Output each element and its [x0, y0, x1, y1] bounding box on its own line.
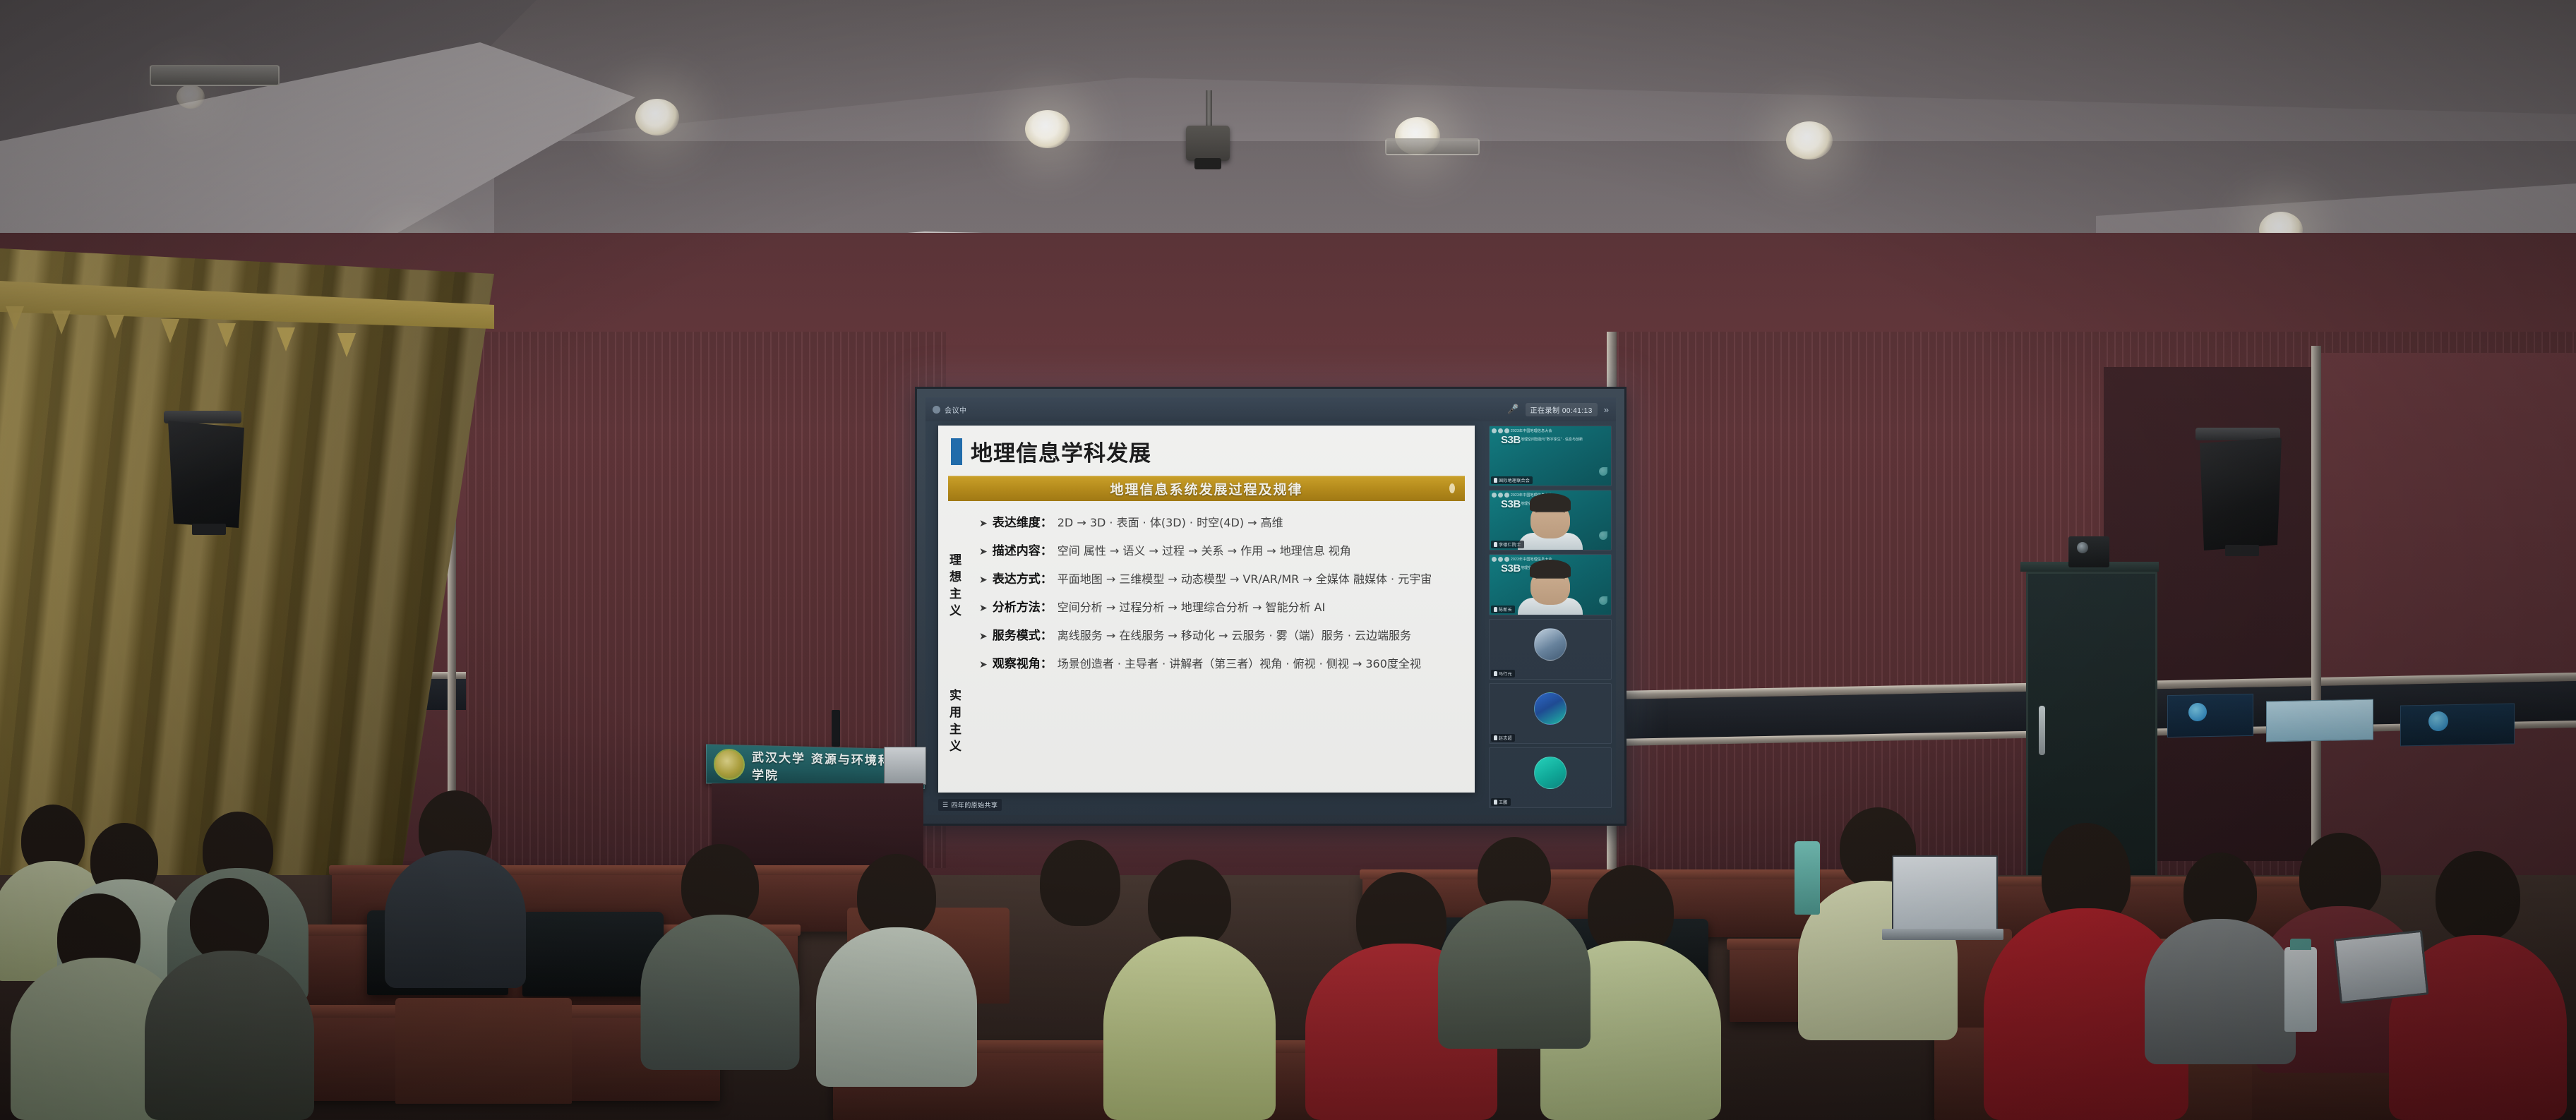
person-head — [1040, 840, 1120, 926]
bullet-key: 表达维度： — [993, 512, 1053, 530]
projector-lens — [1194, 158, 1221, 169]
speaker-bracket-right — [2195, 428, 2280, 440]
wall-display — [2266, 699, 2373, 742]
participant-name: 赵志超 — [1499, 735, 1512, 741]
participant-name-chip: 国际地理联合会 — [1491, 476, 1533, 484]
bullet-key: 描述内容： — [993, 541, 1053, 558]
ceiling-downlight — [635, 99, 679, 136]
curtain-tassel — [52, 311, 71, 335]
slide-title-accent-bar — [951, 438, 962, 465]
slide-banner-label: 地理信息系统发展过程及规律 — [1110, 479, 1302, 498]
participant-tile[interactable]: 2023年中国地理信息大会 S3B 地理空间智能与"数字孪生" · 信息与创新 … — [1489, 426, 1612, 486]
university-seal-icon — [714, 748, 745, 780]
bottle-cap — [2290, 939, 2311, 950]
participant-name-chip: 陈新长 — [1491, 606, 1515, 613]
slide-bullet-item: ➤ 观察视角： 场景创造者 · 主导者 · 讲解者（第三者）视角 · 俯视 · … — [979, 654, 1468, 671]
wall-display — [2167, 694, 2253, 737]
tile-session-code: S3B — [1501, 498, 1521, 510]
person-head — [2436, 851, 2520, 941]
ceiling-downlight — [1025, 110, 1070, 148]
participant-name: 李德仁院士 — [1499, 541, 1521, 548]
participant-tile[interactable]: 2023年中国地理信息大会 S3B 地理空间智能与"数字孪生" 陈新长 — [1489, 554, 1612, 615]
tile-session-code: S3B — [1501, 434, 1521, 446]
participant-tile[interactable]: 赵志超 — [1489, 683, 1612, 744]
microphone-muted-icon — [1494, 478, 1497, 483]
conference-logo-icon — [1492, 493, 1497, 498]
person-torso — [385, 850, 526, 988]
presentation-slide: 地理信息学科发展 地理信息系统发展过程及规律 理想主义 实用主义 ➤ 表达维度： — [938, 426, 1475, 793]
speaker-mount-left — [192, 524, 226, 535]
air-diffuser — [1385, 138, 1480, 155]
curtain-tassel — [217, 323, 236, 347]
eyeglasses-icon — [1535, 577, 1565, 585]
bullet-marker-icon: ➤ — [979, 546, 988, 558]
conference-logo-icon — [1504, 428, 1509, 433]
curtain-tassel — [106, 315, 124, 339]
slide-title: 地理信息学科发展 — [971, 435, 1151, 467]
wall-speaker-right — [2200, 438, 2282, 550]
wall-camera-lens — [2077, 542, 2088, 553]
podium-microphone — [832, 710, 840, 747]
decorative-leaf-icon — [1599, 467, 1607, 476]
tile-header-text: 2023年中国地理信息大会 — [1511, 428, 1552, 433]
projected-image: 会议中 🎤 正在录制 00:41:13 » 地理信息学科发展 地理信息系统发展过… — [925, 397, 1616, 815]
slide-bullet-list: ➤ 表达维度： 2D → 3D · 表面 · 体(3D) · 时空(4D) → … — [979, 512, 1475, 783]
ceiling-downlight — [176, 85, 205, 109]
tile-session-topic: 地理空间智能与"数字孪生" · 信息与创新 — [1521, 437, 1583, 442]
projection-screen: 会议中 🎤 正在录制 00:41:13 » 地理信息学科发展 地理信息系统发展过… — [915, 387, 1627, 826]
audience-member — [657, 844, 784, 1070]
microphone-muted-icon — [1494, 607, 1497, 612]
person-head — [1148, 860, 1231, 949]
ceiling-projector — [1186, 126, 1230, 161]
participant-hair — [1530, 493, 1571, 512]
wall-camera — [2068, 536, 2109, 567]
audience-member — [395, 790, 515, 988]
participant-tile[interactable]: 马行元 — [1489, 619, 1612, 680]
participant-name-chip: 赵志超 — [1491, 734, 1515, 742]
person-torso — [2145, 919, 2296, 1064]
avatar — [1534, 628, 1566, 661]
conference-logo-icon — [1498, 428, 1503, 433]
wall-speaker-left — [168, 421, 244, 528]
avatar — [1534, 692, 1566, 725]
participant-name-chip: 马行元 — [1491, 670, 1515, 678]
water-bottle — [1795, 841, 1820, 915]
eyeglasses-icon — [1535, 511, 1565, 519]
decorative-leaf-icon — [1599, 531, 1607, 540]
slide-title-row: 地理信息学科发展 — [938, 426, 1475, 471]
meeting-caption-bar: ☰ 四年的原始共享 — [938, 799, 1002, 811]
meeting-app-topbar: 会议中 🎤 正在录制 00:41:13 » — [925, 397, 1616, 421]
curtain-tassel — [337, 333, 356, 357]
participant-name: 王鹏 — [1499, 799, 1508, 805]
bullet-value: 空间分析 → 过程分析 → 地理综合分析 → 智能分析 AI — [1058, 598, 1326, 615]
banner-marker-dot — [1449, 483, 1455, 493]
slide-body: 理想主义 实用主义 ➤ 表达维度： 2D → 3D · 表面 · 体(3D) ·… — [938, 501, 1475, 783]
conference-logo-icon — [1504, 493, 1509, 498]
door-handle[interactable] — [2039, 706, 2045, 755]
vertical-label-idealism: 理想主义 — [945, 553, 963, 621]
microphone-muted-icon — [1494, 735, 1497, 740]
audience-member — [833, 854, 960, 1087]
ceiling-downlight — [1786, 121, 1833, 159]
participant-name: 陈新长 — [1499, 606, 1512, 613]
podium-monitor — [884, 747, 926, 785]
person-head — [190, 878, 269, 963]
caption-text: 四年的原始共享 — [951, 800, 998, 809]
tile-header: 2023年中国地理信息大会 — [1492, 428, 1609, 433]
person-torso — [1438, 901, 1590, 1049]
subtitle-icon: ☰ — [942, 801, 948, 809]
bullet-marker-icon: ➤ — [979, 517, 988, 529]
conference-logo-icon — [1492, 557, 1497, 562]
speaker-mount-right — [2225, 545, 2259, 556]
audience-laptop-screen — [1892, 855, 1998, 933]
participant-tile[interactable]: 王鹏 — [1489, 747, 1612, 808]
chair-frame — [395, 998, 572, 1104]
slide-bullet-item: ➤ 分析方法： 空间分析 → 过程分析 → 地理综合分析 → 智能分析 AI — [979, 597, 1468, 615]
audience-member — [1454, 837, 1574, 1049]
vertical-label-pragmatism: 实用主义 — [945, 689, 963, 757]
avatar — [1534, 757, 1566, 789]
person-head — [857, 854, 936, 939]
person-torso — [641, 915, 800, 1070]
slide-bullet-item: ➤ 服务模式： 离线服务 → 在线服务 → 移动化 → 云服务 · 雾（端）服务… — [979, 625, 1468, 643]
microphone-icon[interactable]: 🎤 — [1507, 404, 1518, 415]
wall-display — [2400, 703, 2515, 746]
microphone-muted-icon — [1494, 800, 1497, 805]
bullet-key: 服务模式： — [993, 625, 1053, 643]
person-torso — [145, 951, 314, 1120]
curtain-tassel — [6, 306, 24, 330]
air-diffuser — [150, 65, 280, 86]
microphone-icon — [1494, 542, 1497, 547]
bullet-value: 空间 属性 → 语义 → 过程 → 关系 → 作用 → 地理信息 视角 — [1058, 541, 1351, 558]
participant-name: 国际地理联合会 — [1499, 477, 1530, 483]
meeting-status-label: 会议中 — [945, 404, 967, 415]
participant-name: 马行元 — [1499, 670, 1512, 677]
chevron-double-right-icon[interactable]: » — [1604, 404, 1609, 415]
participant-tile[interactable]: 2023年中国地理信息大会 S3B 地理空间智能与"数字孪生" 李德仁院士 — [1489, 490, 1612, 550]
audience-member — [2407, 851, 2548, 1120]
projector-mount-rod — [1206, 90, 1212, 128]
meeting-status-icon — [933, 406, 940, 414]
topbar-right-group: 🎤 正在录制 00:41:13 » — [1507, 403, 1609, 416]
person-torso — [816, 927, 977, 1087]
decorative-leaf-icon — [1599, 596, 1607, 605]
slide-bullet-item: ➤ 表达方式： 平面地图 → 三维模型 → 动态模型 → VR/AR/MR → … — [979, 569, 1468, 586]
bullet-value: 2D → 3D · 表面 · 体(3D) · 时空(4D) → 高维 — [1058, 513, 1283, 530]
bullet-marker-icon: ➤ — [979, 658, 988, 670]
curtain-tassel — [161, 319, 179, 343]
wall-slab-right — [2316, 353, 2576, 889]
bullet-marker-icon: ➤ — [979, 602, 988, 614]
lecture-hall-photo: 会议中 🎤 正在录制 00:41:13 » 地理信息学科发展 地理信息系统发展过… — [0, 0, 2576, 1120]
slide-bullet-item: ➤ 描述内容： 空间 属性 → 语义 → 过程 → 关系 → 作用 → 地理信息… — [979, 541, 1468, 558]
conference-logo-icon — [1498, 493, 1503, 498]
audience-member — [2160, 853, 2280, 1064]
audience-member — [2005, 823, 2167, 1120]
tablet-device[interactable] — [2334, 930, 2429, 1004]
recording-status-badge: 正在录制 00:41:13 — [1526, 403, 1598, 416]
conference-logo-icon — [1492, 428, 1497, 433]
slide-bullet-item: ➤ 表达维度： 2D → 3D · 表面 · 体(3D) · 时空(4D) → … — [979, 512, 1468, 530]
conference-logo-icon — [1498, 557, 1503, 562]
participant-hair — [1530, 560, 1571, 578]
participant-name-chip: 李德仁院士 — [1491, 541, 1524, 548]
slide-section-banner: 地理信息系统发展过程及规律 — [948, 476, 1465, 501]
person-torso — [1103, 937, 1276, 1120]
topbar-left-group: 会议中 — [933, 404, 967, 415]
audience-member — [1122, 860, 1257, 1120]
bullet-marker-icon: ➤ — [979, 574, 988, 586]
participant-name-chip: 王鹏 — [1491, 798, 1511, 806]
audience-laptop-base — [1882, 929, 2003, 940]
microphone-muted-icon — [1494, 671, 1497, 676]
bullet-key: 分析方法： — [993, 597, 1053, 615]
slide-vertical-labels: 理想主义 实用主义 — [938, 512, 979, 783]
bullet-key: 观察视角： — [993, 654, 1053, 671]
wall-trim-vertical — [2311, 346, 2321, 896]
conference-logo-icon — [1504, 557, 1509, 562]
water-bottle — [2284, 947, 2317, 1032]
bullet-value: 场景创造者 · 主导者 · 讲解者（第三者）视角 · 俯视 · 侧视 → 360… — [1058, 654, 1421, 671]
participant-rail[interactable]: 2023年中国地理信息大会 S3B 地理空间智能与"数字孪生" · 信息与创新 … — [1489, 426, 1612, 808]
bullet-value: 平面地图 → 三维模型 → 动态模型 → VR/AR/MR → 全媒体 融媒体 … — [1058, 570, 1432, 586]
audience-member — [162, 878, 296, 1120]
tile-session-code: S3B — [1501, 562, 1521, 574]
curtain-tassel — [277, 327, 295, 351]
bullet-key: 表达方式： — [993, 569, 1053, 586]
bullet-value: 离线服务 → 在线服务 → 移动化 → 云服务 · 雾（端）服务 · 云边端服务 — [1058, 626, 1411, 643]
bullet-marker-icon: ➤ — [979, 630, 988, 642]
